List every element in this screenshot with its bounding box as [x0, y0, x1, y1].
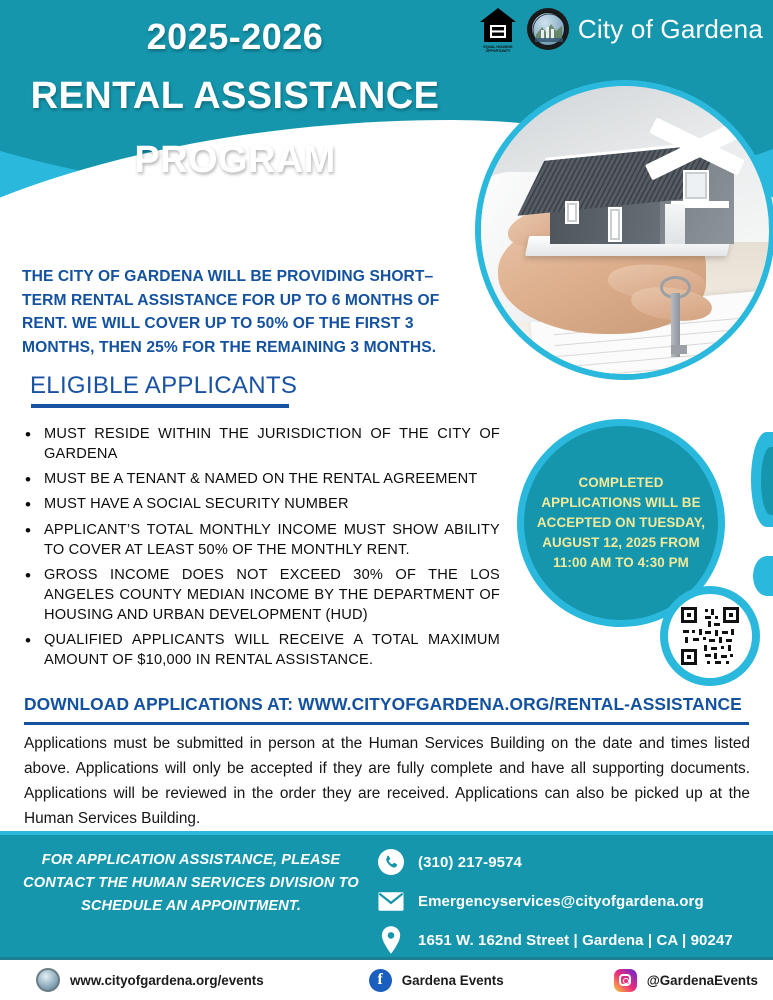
intro-paragraph: THE CITY OF GARDENA WILL BE PROVIDING SH…: [22, 265, 472, 360]
website-label: www.cityofgardena.org/events: [70, 973, 264, 988]
list-item: GROSS INCOME DOES NOT EXCEED 30% OF THE …: [20, 565, 500, 625]
contact-row-phone[interactable]: (310) 217-9574: [378, 845, 768, 879]
title-year: 2025-2026: [0, 14, 470, 59]
instagram-link[interactable]: @GardenaEvents: [614, 969, 758, 992]
logo-row: EQUAL HOUSING OPPORTUNITY City of Garden…: [478, 6, 763, 52]
house-window: [608, 207, 622, 242]
website-link[interactable]: www.cityofgardena.org/events: [36, 968, 264, 992]
title-main-line2: PROGRAM: [0, 135, 470, 187]
list-item: QUALIFIED APPLICANTS WILL RECEIVE A TOTA…: [20, 630, 500, 670]
social-links-bar: www.cityofgardena.org/events f Gardena E…: [0, 960, 773, 1000]
envelope-icon: [378, 888, 404, 914]
title-main-line1: RENTAL ASSISTANCE: [0, 71, 470, 123]
facebook-link[interactable]: f Gardena Events: [369, 969, 504, 992]
eligible-applicants-underline: [31, 404, 289, 408]
key-bit: [671, 345, 687, 354]
city-seal-inner: [531, 12, 565, 46]
eligibility-list: MUST RESIDE WITHIN THE JURISDICTION OF T…: [20, 424, 500, 675]
contact-row-email[interactable]: Emergencyservices@cityofgardena.org: [378, 884, 768, 918]
city-seal-icon: [527, 8, 569, 50]
equal-housing-caption: EQUAL HOUSING OPPORTUNITY: [478, 45, 518, 53]
qr-code-icon[interactable]: [681, 607, 739, 665]
city-of-gardena-label: City of Gardena: [578, 14, 763, 45]
footer-contact-band: FOR APPLICATION ASSISTANCE, PLEASE CONTA…: [0, 835, 773, 957]
instagram-icon: [614, 969, 637, 992]
phone-number: (310) 217-9574: [418, 854, 522, 871]
download-applications-link[interactable]: DOWNLOAD APPLICATIONS AT: WWW.CITYOFGARD…: [24, 694, 742, 715]
flyer-title-block: 2025-2026 RENTAL ASSISTANCE PROGRAM: [0, 14, 470, 186]
download-underline: [24, 722, 749, 725]
eho-line2: OPPORTUNITY: [485, 49, 510, 53]
city-seal-small-icon: [36, 968, 60, 992]
street-address: 1651 W. 162nd Street | Gardena | CA | 90…: [418, 932, 733, 949]
list-item: APPLICANT’S TOTAL MONTHLY INCOME MUST SH…: [20, 520, 500, 560]
house-door: [665, 204, 685, 244]
facebook-label: Gardena Events: [402, 973, 504, 988]
application-assistance-note: FOR APPLICATION ASSISTANCE, PLEASE CONTA…: [16, 849, 366, 918]
list-item: MUST RESIDE WITHIN THE JURISDICTION OF T…: [20, 424, 500, 464]
qr-code-badge[interactable]: [660, 586, 760, 686]
email-address: Emergencyservices@cityofgardena.org: [418, 893, 704, 910]
house-window: [683, 170, 709, 202]
phone-icon: [378, 849, 404, 875]
download-instructions-paragraph: Applications must be submitted in person…: [24, 732, 750, 832]
equal-housing-opportunity-icon: EQUAL HOUSING OPPORTUNITY: [478, 6, 518, 52]
location-pin-icon: [378, 927, 404, 953]
instagram-label: @GardenaEvents: [647, 973, 758, 988]
list-item: MUST HAVE A SOCIAL SECURITY NUMBER: [20, 494, 500, 514]
application-dates-text: COMPLETED APPLICATIONS WILL BE ACCEPTED …: [524, 473, 718, 572]
house-window: [565, 201, 579, 224]
qr-code-disc[interactable]: [668, 594, 752, 678]
contact-row-address[interactable]: 1651 W. 162nd Street | Gardena | CA | 90…: [378, 923, 768, 957]
list-item: MUST BE A TENANT & NAMED ON THE RENTAL A…: [20, 469, 500, 489]
eligible-applicants-heading: ELIGIBLE APPLICANTS: [30, 372, 297, 400]
cyan-accent-sliver: [753, 556, 773, 596]
facebook-icon: f: [369, 969, 392, 992]
house-in-hand-photo: [475, 80, 773, 380]
contact-details: (310) 217-9574 Emergencyservices@cityofg…: [378, 845, 768, 962]
photo-inner: [481, 86, 769, 374]
teal-accent-sliver: [761, 447, 773, 515]
